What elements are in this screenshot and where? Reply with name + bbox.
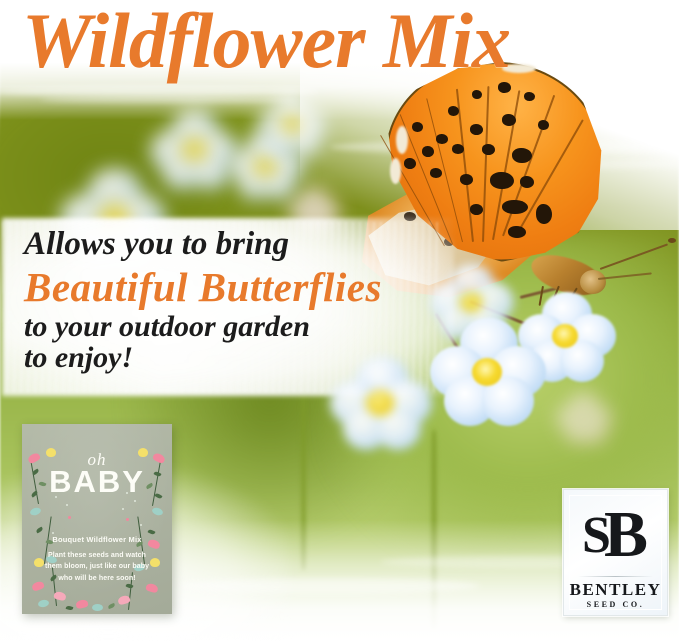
butterfly-spot xyxy=(448,106,459,116)
butterfly-spot xyxy=(412,122,423,132)
butterfly-spot xyxy=(422,146,434,157)
flower-forget-me-not xyxy=(430,318,548,430)
butterfly-antenna xyxy=(600,243,668,270)
butterfly-antenna-tip xyxy=(668,238,676,243)
butterfly-spot xyxy=(536,204,552,224)
butterfly-spot xyxy=(470,124,483,135)
light-streak xyxy=(40,96,300,103)
butterfly-spot xyxy=(460,174,473,185)
butterfly-wing-edge xyxy=(396,126,408,154)
logo-brand-tagline: SEED CO. xyxy=(564,600,667,609)
butterfly-spot xyxy=(490,172,514,189)
logo-divider xyxy=(578,576,653,577)
packet-headline: BABY xyxy=(22,466,172,497)
butterfly-spot xyxy=(472,90,482,99)
page-title: Wildflower Mix xyxy=(22,0,510,86)
packet-description: Plant these seeds and watch them bloom, … xyxy=(44,550,150,584)
butterfly-spot xyxy=(452,144,464,154)
butterfly-spot xyxy=(512,148,532,163)
logo-monogram-b: B xyxy=(604,502,648,568)
packet-dot xyxy=(134,500,136,502)
butterfly-antenna xyxy=(598,272,652,280)
packet-yellow-flower xyxy=(150,558,160,567)
butterfly-spot xyxy=(470,204,483,215)
butterfly-head xyxy=(580,270,606,294)
packet-teal-flower xyxy=(92,604,103,611)
seed-packet[interactable]: oh BABY Bouquet Wildflower Mix Plant the… xyxy=(22,424,172,614)
light-streak xyxy=(180,578,480,594)
tagline-line-3: to your outdoor garden xyxy=(24,312,454,342)
butterfly-spot xyxy=(502,200,528,214)
logo-brand-name: BENTLEY xyxy=(564,580,667,600)
marketing-tagline: Allows you to bring Beautiful Butterflie… xyxy=(24,228,454,373)
butterfly-spot xyxy=(520,176,534,188)
packet-variety-name: Bouquet Wildflower Mix xyxy=(22,535,172,544)
flower-blurred-pink xyxy=(556,392,612,444)
packet-dot xyxy=(66,504,68,506)
tagline-line-2-highlight: Beautiful Butterflies xyxy=(24,267,454,308)
butterfly-spot xyxy=(508,226,526,238)
butterfly-spot xyxy=(430,168,442,178)
light-streak xyxy=(0,86,320,96)
tagline-line-1: Allows you to bring xyxy=(24,228,454,261)
butterfly-spot xyxy=(404,158,416,169)
butterfly-spot xyxy=(436,134,448,144)
butterfly-spot xyxy=(538,120,549,130)
packet-dot xyxy=(122,508,124,510)
butterfly-wing-edge xyxy=(390,158,401,184)
packet-yellow-flower xyxy=(34,558,44,567)
butterfly-spot xyxy=(524,92,535,101)
logo-monogram: S B xyxy=(564,498,667,570)
packet-berry xyxy=(126,518,129,521)
butterfly-spot xyxy=(482,144,495,155)
butterfly-spot xyxy=(502,114,516,126)
flower-forget-me-not xyxy=(330,356,434,452)
product-image-canvas: Wildflower Mix Allows you to bring Beaut… xyxy=(0,0,679,641)
packet-berry xyxy=(68,516,71,519)
bentley-seed-co-logo[interactable]: S B BENTLEY SEED CO. xyxy=(563,489,668,616)
packet-dot xyxy=(52,532,54,534)
packet-dot xyxy=(140,524,142,526)
